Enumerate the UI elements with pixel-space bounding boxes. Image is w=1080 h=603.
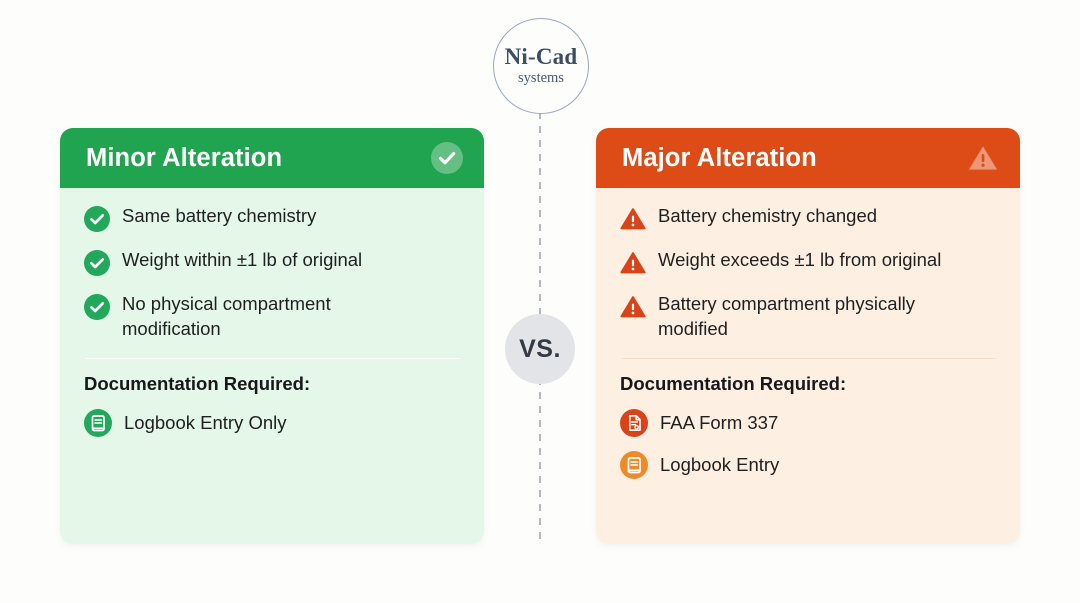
minor-card-body: Same battery chemistry Weight within ±1 … xyxy=(60,188,484,437)
document-text: Logbook Entry xyxy=(660,454,779,476)
criteria-text: Weight within ±1 lb of original xyxy=(122,248,362,273)
warning-triangle-icon xyxy=(620,206,646,232)
check-circle-icon xyxy=(84,250,110,276)
brand-logo-name: Ni-Cad xyxy=(505,45,578,69)
list-item: Battery chemistry changed xyxy=(620,204,998,232)
minor-criteria-list: Same battery chemistry Weight within ±1 … xyxy=(84,204,462,342)
list-item: FAA Form 337 xyxy=(620,409,998,437)
minor-documents-list: Logbook Entry Only xyxy=(84,409,462,437)
versus-badge: VS. xyxy=(505,314,575,384)
brand-logo-subtitle: systems xyxy=(518,69,564,88)
list-item: Battery compartment physically modified xyxy=(620,292,998,342)
major-criteria-list: Battery chemistry changed Weight exceeds… xyxy=(620,204,998,342)
minor-card-title: Minor Alteration xyxy=(86,144,282,173)
major-doc-heading: Documentation Required: xyxy=(620,373,998,395)
list-item: Weight within ±1 lb of original xyxy=(84,248,462,276)
list-item: Same battery chemistry xyxy=(84,204,462,232)
major-card-header: Major Alteration xyxy=(596,128,1020,188)
check-circle-icon xyxy=(431,142,463,174)
criteria-text: Battery chemistry changed xyxy=(658,204,877,229)
logbook-icon xyxy=(84,409,112,437)
list-item: Weight exceeds ±1 lb from original xyxy=(620,248,998,276)
logbook-icon xyxy=(620,451,648,479)
criteria-text: No physical compartment modification xyxy=(122,292,392,342)
criteria-text: Same battery chemistry xyxy=(122,204,316,229)
versus-label: VS. xyxy=(519,335,561,364)
check-circle-icon xyxy=(84,206,110,232)
document-text: Logbook Entry Only xyxy=(124,412,286,434)
warning-triangle-icon xyxy=(967,142,999,174)
criteria-text: Weight exceeds ±1 lb from original xyxy=(658,248,941,273)
form-document-icon xyxy=(620,409,648,437)
list-item: Logbook Entry Only xyxy=(84,409,462,437)
section-divider xyxy=(86,358,460,359)
major-card-title: Major Alteration xyxy=(622,144,817,173)
criteria-text: Battery compartment physically modified xyxy=(658,292,958,342)
minor-card-header: Minor Alteration xyxy=(60,128,484,188)
minor-alteration-card: Minor Alteration Same battery chemistry xyxy=(60,128,484,544)
warning-triangle-icon xyxy=(620,294,646,320)
minor-doc-heading: Documentation Required: xyxy=(84,373,462,395)
list-item: Logbook Entry xyxy=(620,451,998,479)
major-documents-list: FAA Form 337 Logbook Entry xyxy=(620,409,998,479)
warning-triangle-icon xyxy=(620,250,646,276)
brand-logo: Ni-Cad systems xyxy=(493,18,589,114)
major-card-body: Battery chemistry changed Weight exceeds… xyxy=(596,188,1020,479)
major-alteration-card: Major Alteration Battery chemistry chang… xyxy=(596,128,1020,544)
check-circle-icon xyxy=(84,294,110,320)
document-text: FAA Form 337 xyxy=(660,412,778,434)
list-item: No physical compartment modification xyxy=(84,292,462,342)
section-divider xyxy=(622,358,996,359)
